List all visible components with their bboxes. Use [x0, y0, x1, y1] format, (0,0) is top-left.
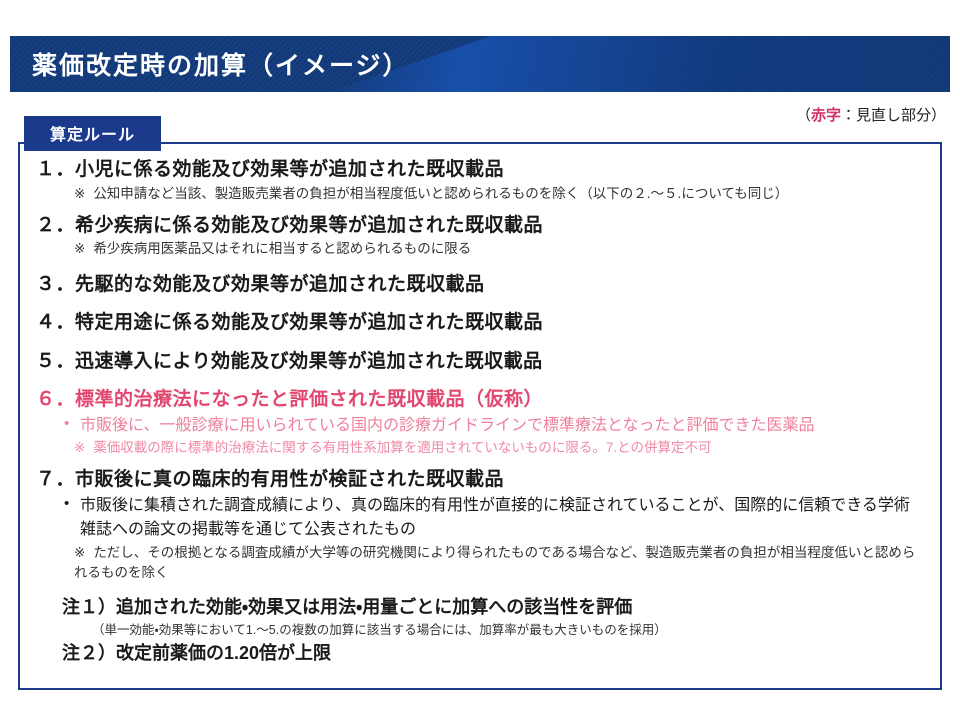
header-accent-shape [330, 36, 950, 92]
note-marker-icon: ※ [74, 440, 85, 455]
rule-item-1: １．小児に係る効能及び効果等が追加された既収載品 ※公知申請など当該、製造販売業… [36, 156, 924, 204]
rule-item-2-title: ２．希少疾病に係る効能及び効果等が追加された既収載品 [36, 212, 924, 240]
footnote-1-sub: （単一効能・効果等において1.～5.の複数の加算に該当する場合には、加算率が最も… [92, 621, 924, 640]
spacer [36, 339, 924, 348]
rules-box: １．小児に係る効能及び効果等が追加された既収載品 ※公知申請など当該、製造販売業… [18, 142, 942, 690]
rule-item-7: ７．市販後に真の臨床的有用性が検証された既収載品 市販後に集積された調査成績によ… [36, 466, 924, 583]
spacer [36, 585, 924, 594]
spacer [36, 377, 924, 386]
rule-item-6-title: ６．標準的治療法になったと評価された既収載品（仮称） [36, 386, 924, 414]
rule-item-2: ２．希少疾病に係る効能及び効果等が追加された既収載品 ※希少疾病用医薬品又はそれ… [36, 212, 924, 260]
rule-item-6-bullet: 市販後に、一般診療に用いられている国内の診療ガイドラインで標準療法となったと評価… [62, 414, 924, 438]
note-marker-icon: ※ [74, 241, 85, 256]
rule-item-4-title: ４．特定用途に係る効能及び効果等が追加された既収載品 [36, 309, 924, 337]
rule-item-5-title: ５．迅速導入により効能及び効果等が追加された既収載品 [36, 348, 924, 376]
legend-open-paren: （ [796, 107, 811, 124]
rule-item-1-note: ※公知申請など当該、製造販売業者の負担が相当程度低いと認められるものを除く（以下… [74, 184, 924, 204]
rule-item-3-title: ３．先駆的な効能及び効果等が追加された既収載品 [36, 271, 924, 299]
note-marker-icon: ※ [74, 186, 85, 201]
rule-item-1-title: １．小児に係る効能及び効果等が追加された既収載品 [36, 156, 924, 184]
rule-item-5: ５．迅速導入により効能及び効果等が追加された既収載品 [36, 348, 924, 376]
legend-red-label: 赤字 [811, 107, 841, 124]
rule-tab: 算定ルール [24, 116, 161, 151]
slide-root: 薬価改定時の加算（イメージ） （赤字：見直し部分） 算定ルール １．小児に係る効… [0, 0, 960, 720]
footnote-1: 注１）追加された効能・効果又は用法・用量ごとに加算への該当性を評価 （単一効能・… [62, 594, 924, 640]
note-marker-icon: ※ [74, 545, 85, 560]
spacer [36, 300, 924, 309]
rule-item-4: ４．特定用途に係る効能及び効果等が追加された既収載品 [36, 309, 924, 337]
legend-note: （赤字：見直し部分） [796, 104, 946, 125]
rule-item-2-note-text: 希少疾病用医薬品又はそれに相当すると認められるものに限る [93, 241, 471, 256]
spacer [36, 262, 924, 271]
rule-item-7-bullet: 市販後に集積された調査成績により、真の臨床的有用性が直接的に検証されていることが… [62, 494, 924, 543]
rule-item-2-note: ※希少疾病用医薬品又はそれに相当すると認められるものに限る [74, 239, 924, 259]
footnote-2-title: 注２）改定前薬価の1.20倍が上限 [62, 640, 924, 667]
rule-item-3: ３．先駆的な効能及び効果等が追加された既収載品 [36, 271, 924, 299]
legend-rest: ：見直し部分） [841, 107, 946, 124]
rule-item-1-note-text: 公知申請など当該、製造販売業者の負担が相当程度低いと認められるものを除く（以下の… [93, 186, 788, 201]
header-band: 薬価改定時の加算（イメージ） [10, 36, 950, 92]
rule-item-7-note: ※ただし、その根拠となる調査成績が大学等の研究機関により得られたものである場合な… [74, 543, 924, 584]
page-title: 薬価改定時の加算（イメージ） [32, 46, 410, 82]
rule-item-6: ６．標準的治療法になったと評価された既収載品（仮称） 市販後に、一般診療に用いら… [36, 386, 924, 458]
footnote-1-title: 注１）追加された効能・効果又は用法・用量ごとに加算への該当性を評価 [62, 594, 924, 621]
rule-item-7-note-text: ただし、その根拠となる調査成績が大学等の研究機関により得られたものである場合など… [74, 545, 915, 580]
rule-item-6-note: ※薬価収載の際に標準的治療法に関する有用性系加算を適用されていないものに限る。7… [74, 438, 924, 458]
footnote-2: 注２）改定前薬価の1.20倍が上限 [62, 640, 924, 667]
rule-item-7-title: ７．市販後に真の臨床的有用性が検証された既収載品 [36, 466, 924, 494]
rule-item-6-note-text: 薬価収載の際に標準的治療法に関する有用性系加算を適用されていないものに限る。7.… [93, 440, 711, 455]
